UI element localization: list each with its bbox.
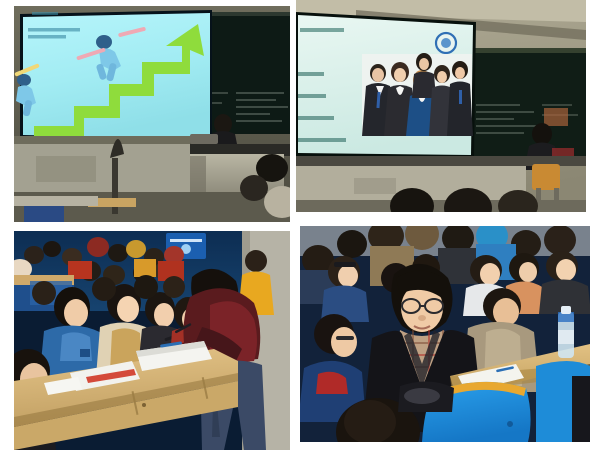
floor [296,200,586,212]
panel-top-right [296,0,586,212]
lecture-hall-projector-group-photo-slide [296,0,586,212]
audience-students-seated [300,226,590,442]
front-counter-top [14,136,190,144]
projector-box [190,134,218,144]
water-bottle [558,306,574,358]
side-person [572,376,590,442]
slide-heading [300,28,344,32]
counter-panel [36,156,96,182]
lecture-hall-projector-stairs-slide [14,6,290,222]
blackboard-frame-top [464,48,586,53]
wall-poster [544,108,568,126]
chair-bolt [507,421,513,427]
panel-bottom-left [14,231,290,450]
slide-group-photo [362,53,473,136]
panel-bottom-right [300,226,590,442]
blackboard [464,48,586,158]
students-signing-up-at-desk [14,231,290,450]
bench-panel [354,178,396,194]
photo-collage: Lecture hall with projection screen show… [0,0,600,450]
student-desk [14,196,98,206]
bag-handle [404,388,440,404]
student-bag [24,206,64,222]
desk-knob [142,403,146,407]
glasses-icon [336,336,354,340]
panel-top-left [14,6,290,222]
slide-logo-icon [436,33,456,53]
audience-heads [390,188,538,212]
projection-screen [23,13,210,139]
